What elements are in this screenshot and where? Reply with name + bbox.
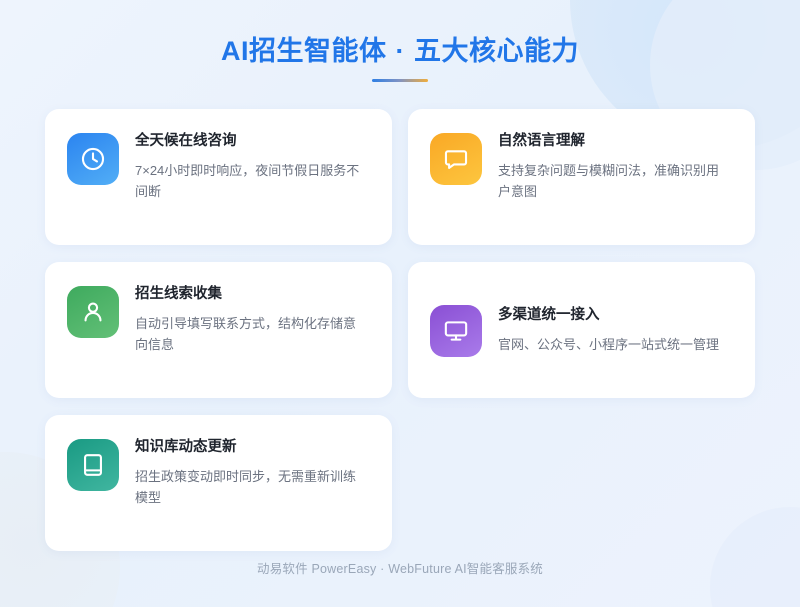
- user-icon: [67, 286, 119, 338]
- feature-card-title: 自然语言理解: [498, 132, 731, 151]
- feature-card[interactable]: 招生线索收集 自动引导填写联系方式，结构化存储意向信息: [45, 262, 392, 398]
- feature-card-body: 知识库动态更新 招生政策变动即时同步，无需重新训练模型: [135, 437, 368, 508]
- page-title-right: 五大核心能力: [414, 36, 579, 66]
- page-title: AI招生智能体·五大核心能力: [221, 34, 579, 69]
- feature-card-title: 招生线索收集: [135, 285, 368, 304]
- feature-card[interactable]: 全天候在线咨询 7×24小时即时响应，夜间节假日服务不间断: [45, 109, 392, 245]
- feature-card[interactable]: 知识库动态更新 招生政策变动即时同步，无需重新训练模型: [45, 415, 392, 551]
- feature-card-body: 全天候在线咨询 7×24小时即时响应，夜间节假日服务不间断: [135, 131, 368, 202]
- title-underline: [372, 79, 428, 82]
- page-title-left: AI招生智能体: [221, 36, 387, 66]
- feature-card-desc: 招生政策变动即时同步，无需重新训练模型: [135, 466, 368, 508]
- chat-bubble-icon: [430, 133, 482, 185]
- feature-card-desc: 自动引导填写联系方式，结构化存储意向信息: [135, 313, 368, 355]
- feature-card-title: 全天候在线咨询: [135, 132, 368, 151]
- slide-page: AI招生智能体·五大核心能力 全天候在线咨询 7×24小时即时响应，夜间节假日服…: [0, 0, 800, 607]
- book-icon: [67, 439, 119, 491]
- feature-card-desc: 支持复杂问题与模糊问法，准确识别用户意图: [498, 160, 731, 202]
- feature-card-body: 招生线索收集 自动引导填写联系方式，结构化存储意向信息: [135, 284, 368, 355]
- footer-text: 动易软件 PowerEasy · WebFuture AI智能客服系统: [257, 558, 543, 577]
- page-title-separator: ·: [387, 36, 415, 66]
- feature-card[interactable]: 自然语言理解 支持复杂问题与模糊问法，准确识别用户意图: [408, 109, 755, 245]
- feature-card-grid: 全天候在线咨询 7×24小时即时响应，夜间节假日服务不间断 自然语言理解 支持复…: [45, 109, 755, 551]
- monitor-icon: [430, 305, 482, 357]
- feature-card[interactable]: 多渠道统一接入 官网、公众号、小程序一站式统一管理: [408, 262, 755, 398]
- feature-card-desc: 官网、公众号、小程序一站式统一管理: [498, 334, 719, 355]
- clock-icon: [67, 133, 119, 185]
- feature-card-desc: 7×24小时即时响应，夜间节假日服务不间断: [135, 160, 368, 202]
- feature-card-body: 多渠道统一接入 官网、公众号、小程序一站式统一管理: [498, 305, 719, 355]
- feature-card-title: 多渠道统一接入: [498, 306, 719, 325]
- feature-card-title: 知识库动态更新: [135, 438, 368, 457]
- header: AI招生智能体·五大核心能力: [221, 34, 579, 82]
- feature-card-body: 自然语言理解 支持复杂问题与模糊问法，准确识别用户意图: [498, 131, 731, 202]
